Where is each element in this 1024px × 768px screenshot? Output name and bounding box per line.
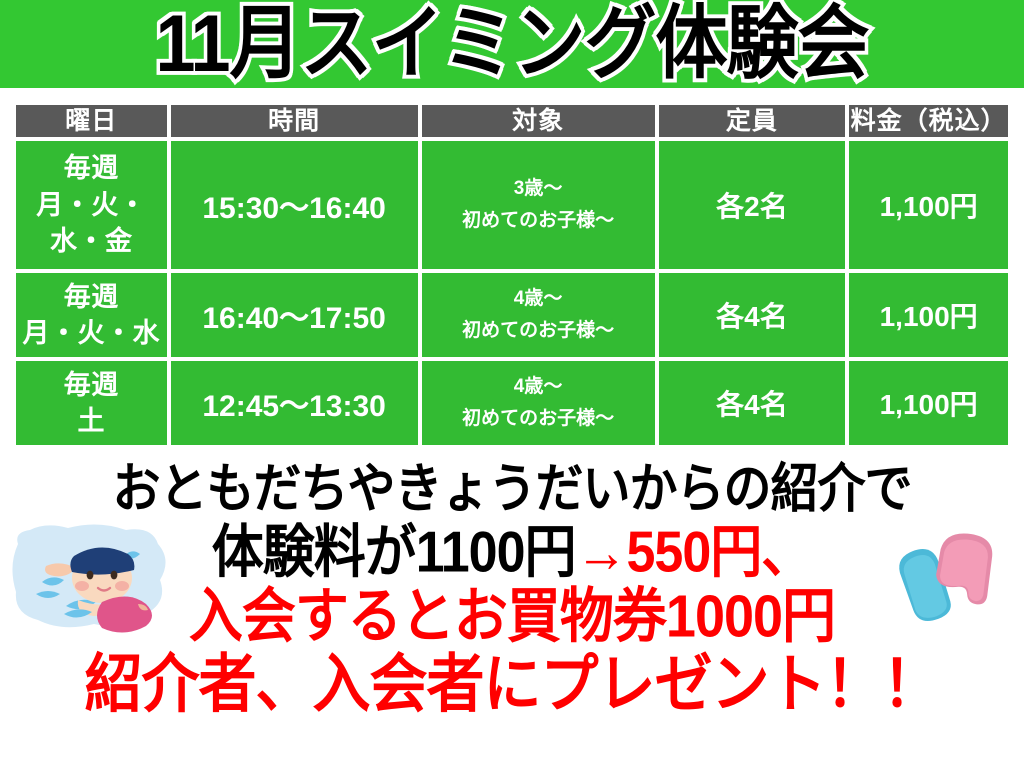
cell-day: 毎週 土 [16,361,167,445]
cell-day: 毎週 月・火・水 [16,273,167,357]
column-header-time: 時間 [171,105,418,137]
cell-price: 1,100円 [849,361,1008,445]
page-title: 11月スイミング体験会 [155,4,868,85]
promo-line-referral: おともだちやきょうだいからの紹介で [0,464,1024,518]
day-line: 月・火・水 [16,315,167,351]
target-line: 初めてのお子様〜 [422,403,655,435]
schedule-table: 曜日 時間 対象 定員 料金（税込） 毎週 月・火・ 水・金 15:30〜16:… [12,101,1012,449]
promo-fee-original: 体験料が1100円 [212,521,576,585]
table-row: 毎週 土 12:45〜13:30 4歳〜 初めてのお子様〜 各4名 1,100円 [16,361,1008,445]
promo-fee-discounted: →550円、 [576,521,813,585]
target-line: 初めてのお子様〜 [422,315,655,347]
target-line: 4歳〜 [422,283,655,315]
day-line: 毎週 [16,150,167,186]
day-line: 土 [16,403,167,439]
cell-target: 3歳〜 初めてのお子様〜 [422,141,655,269]
table-row: 毎週 月・火・ 水・金 15:30〜16:40 3歳〜 初めてのお子様〜 各2名… [16,141,1008,269]
table-row: 毎週 月・火・水 16:40〜17:50 4歳〜 初めてのお子様〜 各4名 1,… [16,273,1008,357]
promo-line-discount: 体験料が1100円→550円、 [0,524,1024,582]
cell-capacity: 各2名 [659,141,846,269]
column-header-capacity: 定員 [659,105,846,137]
promo-block: おともだちやきょうだいからの紹介で 体験料が1100円→550円、 入会するとお… [0,466,1024,714]
cell-day: 毎週 月・火・ 水・金 [16,141,167,269]
day-line: 毎週 [16,367,167,403]
promo-line-voucher: 入会するとお買物券1000円 [0,587,1024,648]
day-line: 毎週 [16,279,167,315]
cell-price: 1,100円 [849,273,1008,357]
cell-price: 1,100円 [849,141,1008,269]
column-header-target: 対象 [422,105,655,137]
target-line: 4歳〜 [422,371,655,403]
day-line: 水・金 [16,223,167,259]
cell-time: 15:30〜16:40 [171,141,418,269]
cell-target: 4歳〜 初めてのお子様〜 [422,361,655,445]
table-header-row: 曜日 時間 対象 定員 料金（税込） [16,105,1008,137]
cell-time: 16:40〜17:50 [171,273,418,357]
cell-capacity: 各4名 [659,273,846,357]
column-header-day: 曜日 [16,105,167,137]
cell-target: 4歳〜 初めてのお子様〜 [422,273,655,357]
cell-capacity: 各4名 [659,361,846,445]
cell-time: 12:45〜13:30 [171,361,418,445]
promo-line-present: 紹介者、入会者にプレゼント！！ [0,652,1024,717]
column-header-price: 料金（税込） [849,105,1008,137]
target-line: 初めてのお子様〜 [422,205,655,237]
day-line: 月・火・ [16,187,167,223]
target-line: 3歳〜 [422,173,655,205]
title-band: 11月スイミング体験会 [0,0,1024,88]
